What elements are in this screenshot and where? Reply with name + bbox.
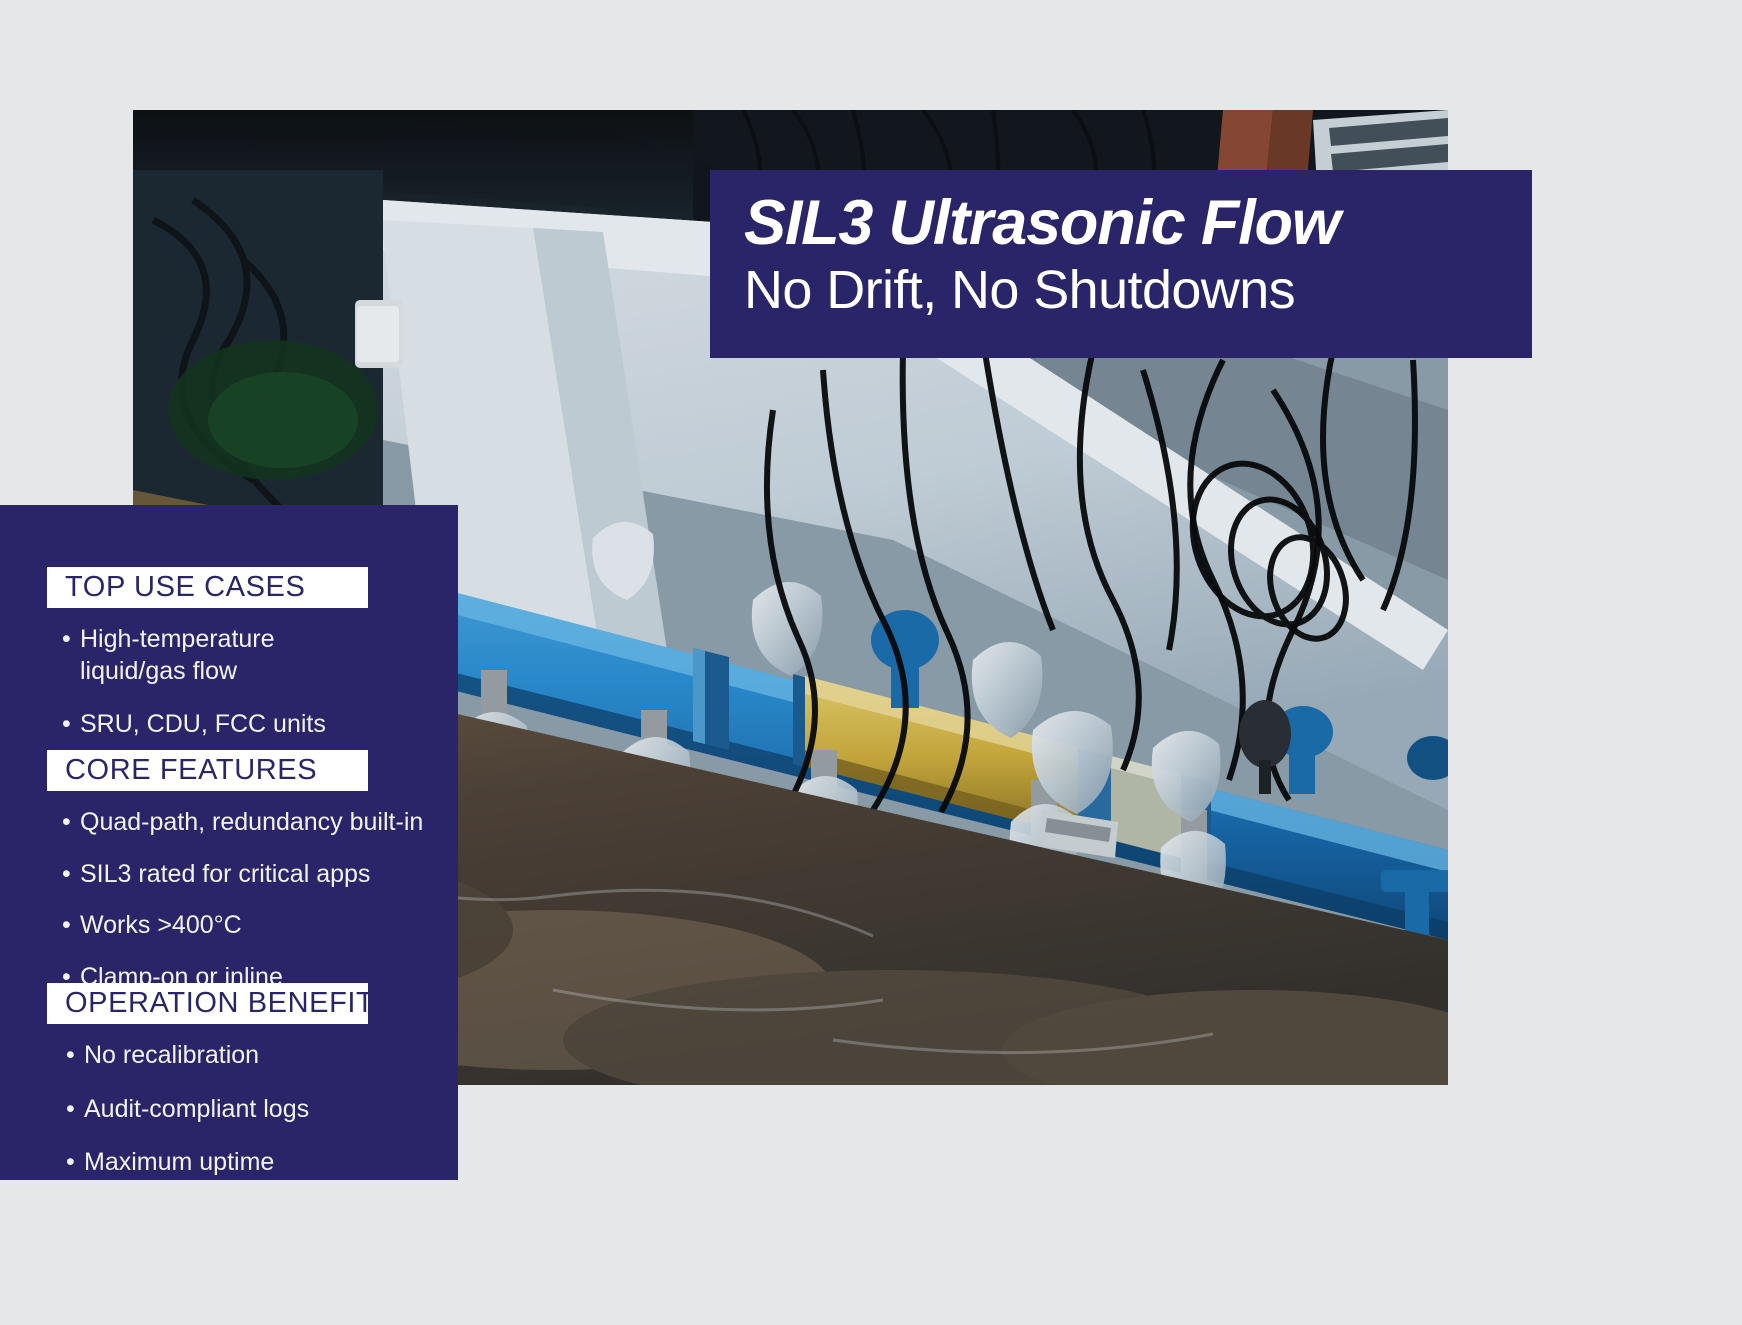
info-sidebar-panel: TOP USE CASES High-temperature liquid/ga… — [0, 505, 458, 1180]
section-core-features: CORE FEATURES Quad-path, redundancy buil… — [0, 750, 458, 1013]
list-item: Maximum uptime — [66, 1147, 458, 1179]
list-item: Quad-path, redundancy built-in — [62, 807, 458, 839]
list-item: Audit-compliant logs — [66, 1094, 458, 1126]
page-title: SIL3 Ultrasonic Flow — [744, 190, 1498, 256]
list-item: SRU, CDU, FCC units — [62, 709, 458, 741]
list-item: SIL3 rated for critical apps — [62, 859, 458, 891]
list-item: No recalibration — [66, 1040, 458, 1072]
section-operation-benefit: OPERATION BENEFIT No recalibration Audit… — [0, 983, 458, 1201]
section-top-use-cases: TOP USE CASES High-temperature liquid/ga… — [0, 567, 458, 763]
bullet-list-top-use-cases: High-temperature liquid/gas flow SRU, CD… — [0, 624, 458, 741]
list-item: High-temperature liquid/gas flow — [62, 624, 458, 687]
page-subtitle: No Drift, No Shutdowns — [744, 258, 1498, 323]
bullet-list-core-features: Quad-path, redundancy built-in SIL3 rate… — [0, 807, 458, 993]
bullet-list-operation-benefit: No recalibration Audit-compliant logs Ma… — [0, 1040, 458, 1179]
section-heading-top-use-cases: TOP USE CASES — [47, 567, 368, 608]
hero-title-banner: SIL3 Ultrasonic Flow No Drift, No Shutdo… — [710, 170, 1532, 358]
section-heading-core-features: CORE FEATURES — [47, 750, 368, 791]
section-heading-operation-benefit: OPERATION BENEFIT — [47, 983, 368, 1024]
list-item: Works >400°C — [62, 910, 458, 942]
